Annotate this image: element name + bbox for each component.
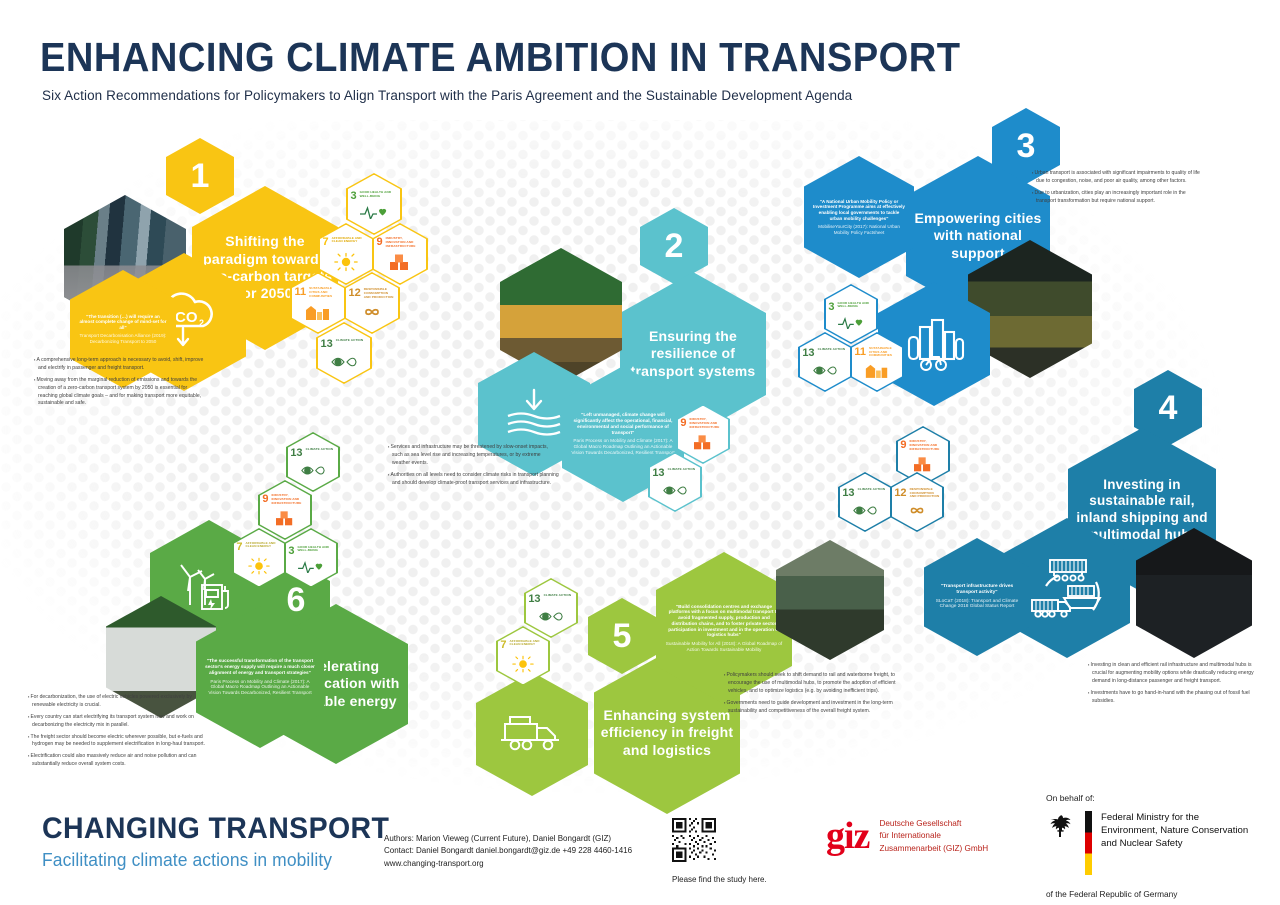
- sun-icon: [333, 252, 359, 274]
- sdg-9-number: 9: [680, 418, 686, 429]
- contact-line: Contact: Daniel Bongardt daniel.bongardt…: [384, 845, 632, 857]
- ministry-footer: of the Federal Republic of Germany: [1046, 889, 1248, 899]
- section-3-quote: "A National Urban Mobility Policy or Inv…: [813, 199, 905, 221]
- section-3-source: MobiliseYourCity (2017): National Urban …: [813, 224, 905, 235]
- section-2-bullets: Services and infrastructure may be threa…: [388, 444, 560, 491]
- sdg-11-number: 11: [854, 347, 866, 358]
- city-buildings-icon: [304, 303, 332, 321]
- giz-logo: giz Deutsche Gesellschaft für Internatio…: [826, 818, 988, 855]
- climate-eye-globe-icon: [852, 503, 878, 518]
- section-6-quote: "The successful transformation of the tr…: [205, 658, 315, 675]
- section-3-quote-block: "A National Urban Mobility Policy or Inv…: [804, 199, 914, 236]
- section-1-source: Transport Decarbonisation Alliance (2019…: [79, 333, 167, 344]
- sdg-13-number: 13: [528, 594, 540, 605]
- page-title: ENHANCING CLIMATE AMBITION IN TRANSPORT: [40, 34, 961, 81]
- industry-cubes-icon: [273, 510, 297, 528]
- section-2-quote-block: "Left unmanaged, climate change will sig…: [562, 412, 684, 455]
- sdg-13-number: 13: [652, 468, 664, 479]
- qr-block[interactable]: Please find the study here.: [672, 818, 767, 884]
- rail-ship-truck-icon: [1024, 552, 1110, 624]
- brand-title: CHANGING TRANSPORT: [42, 812, 389, 846]
- sdg-9-number: 9: [262, 494, 268, 505]
- section-3-bullet-1: Urban transport is associated with signi…: [1032, 170, 1204, 186]
- section-2-title: Ensuring the resilience of transport sys…: [620, 328, 766, 380]
- ministry-name: Federal Ministry for the Environment, Na…: [1101, 811, 1248, 851]
- section-5-source: Sustainable Mobility for All (2018): A G…: [665, 641, 783, 652]
- qr-caption: Please find the study here.: [672, 875, 767, 884]
- sdg-12-label: RESPONSIBLE CONSUMPTION AND PRODUCTION: [910, 488, 940, 499]
- page-subtitle: Six Action Recommendations for Policymak…: [42, 88, 852, 103]
- industry-cubes-icon: [691, 434, 715, 452]
- poster-canvas: ENHANCING CLIMATE AMBITION IN TRANSPORT …: [0, 0, 1280, 905]
- section-6-bullet-3: The freight sector should become electri…: [28, 734, 208, 750]
- section-6-bullet-4: Electrification could also massively red…: [28, 753, 208, 769]
- sdg-13-number: 13: [290, 448, 302, 459]
- sdg-13-label: CLIMATE ACTION: [306, 448, 334, 452]
- heartbeat-icon: [297, 561, 325, 573]
- climate-eye-globe-icon: [330, 354, 358, 370]
- section-2-bullet-2: Authorities on all levels need to consid…: [388, 472, 560, 488]
- sdg-13-label: CLIMATE ACTION: [336, 339, 364, 343]
- section-5-quote-block: "Build consolidation centres and exchang…: [656, 604, 792, 653]
- section-4-bullets: Investing in clean and efficient rail in…: [1088, 662, 1263, 709]
- section-5-bullets: Policymakers should seek to shift demand…: [724, 672, 900, 719]
- section-5-number: 5: [613, 619, 632, 653]
- sdg-12-number: 12: [894, 488, 906, 499]
- sdg-12-number: 12: [348, 288, 360, 299]
- section-2-number: 2: [665, 229, 684, 263]
- svg-text:CO: CO: [175, 309, 198, 326]
- svg-text:2: 2: [199, 318, 204, 328]
- sdg-3-number: 3: [350, 191, 356, 202]
- section-4-number: 4: [1159, 391, 1178, 425]
- section-4-quote: "Transport infrastructure drives transpo…: [933, 584, 1021, 596]
- section-3-bullet-2: Due to urbanization, cities play an incr…: [1032, 190, 1204, 206]
- section-4-bullet-1: Investing in clean and efficient rail in…: [1088, 662, 1263, 686]
- sdg-13-number: 13: [802, 348, 814, 359]
- sdg-13-number: 13: [320, 339, 332, 350]
- federal-eagle-icon: [1046, 811, 1076, 841]
- section-2-quote: "Left unmanaged, climate change will sig…: [571, 412, 675, 435]
- sdg-9-label: INDUSTRY, INNOVATION AND INFRASTRUCTURE: [689, 418, 725, 429]
- section-5-title: Enhancing system efficiency in freight a…: [594, 707, 740, 759]
- sdg-12-label: RESPONSIBLE CONSUMPTION AND PRODUCTION: [364, 288, 396, 299]
- sdg-9-label: INDUSTRY, INNOVATION AND INFRASTRUCTURE: [386, 237, 424, 248]
- infinity-icon: [904, 503, 930, 518]
- brand-tagline: Facilitating climate actions in mobility: [42, 850, 397, 871]
- sdg-3-label: GOOD HEALTH AND WELL-BEING: [297, 546, 333, 554]
- freight-truck-icon: [495, 710, 569, 758]
- heartbeat-icon: [359, 206, 389, 219]
- section-1-quote: "The transition (…) will require an almo…: [79, 314, 167, 331]
- section-6-quote-block: "The successful transformation of the tr…: [196, 658, 324, 695]
- sdg-9-label: INDUSTRY, INNOVATION AND INFRASTRUCTURE: [271, 494, 307, 505]
- sdg-11-number: 11: [294, 287, 306, 298]
- authors-line: Authors: Marion Vieweg (Current Future),…: [384, 833, 632, 845]
- section-4-bullet-2: Investments have to go hand-in-hand with…: [1088, 690, 1263, 706]
- sdg-13-number: 13: [842, 488, 854, 499]
- heartbeat-icon: [837, 317, 865, 329]
- sdg-7-label: AFFORDABLE AND CLEAN ENERGY: [332, 237, 370, 245]
- giz-fullname: Deutsche Gesellschaft für Internationale…: [879, 818, 988, 855]
- sun-icon: [247, 557, 271, 577]
- german-flag-bar: [1085, 811, 1092, 875]
- on-behalf-label: On behalf of:: [1046, 793, 1248, 803]
- section-5-bullet-1: Policymakers should seek to shift demand…: [724, 672, 900, 696]
- city-skyline-bike-icon: [901, 315, 967, 373]
- section-1-bullet-2: Moving away from the marginal reduction …: [34, 377, 206, 409]
- sdg-9-label: INDUSTRY, INNOVATION AND INFRASTRUCTURE: [909, 440, 945, 451]
- contact-block: Authors: Marion Vieweg (Current Future),…: [384, 833, 632, 870]
- website-line[interactable]: www.changing-transport.org: [384, 858, 632, 870]
- section-2-source: Paris Process on Mobility and Climate (2…: [571, 438, 675, 455]
- sdg-9-number: 9: [900, 440, 906, 451]
- industry-cubes-icon: [387, 253, 413, 273]
- sdg-9-number: 9: [376, 237, 382, 248]
- sdg-3-label: GOOD HEALTH AND WELL-BEING: [837, 302, 873, 310]
- sdg-7-number: 7: [236, 542, 242, 553]
- sun-icon: [511, 655, 535, 675]
- sea-level-rise-icon: [502, 386, 566, 442]
- sdg-3-label: GOOD HEALTH AND WELL-BEING: [360, 191, 398, 199]
- sdg-7-label: AFFORDABLE AND CLEAN ENERGY: [245, 542, 281, 550]
- section-5-bullet-2: Governments need to guide development an…: [724, 700, 900, 716]
- section-4-quote-block: "Transport infrastructure drives transpo…: [924, 584, 1030, 610]
- sdg-3-number: 3: [288, 546, 294, 557]
- section-2-bullet-1: Services and infrastructure may be threa…: [388, 444, 560, 468]
- city-buildings-icon: [864, 362, 890, 379]
- section-3-number: 3: [1017, 129, 1036, 163]
- sdg-3-number: 3: [828, 302, 834, 313]
- changing-transport-logo: CHANGING TRANSPORT Facilitating climate …: [42, 812, 408, 871]
- section-6-bullets: For decarbonization, the use of electric…: [28, 694, 208, 773]
- sdg-13-label: CLIMATE ACTION: [544, 594, 572, 598]
- section-6-number: 6: [287, 583, 306, 617]
- section-6-bullet-1: For decarbonization, the use of electric…: [28, 694, 208, 710]
- climate-eye-globe-icon: [662, 483, 688, 498]
- sdg-11-label: SUSTAINABLE CITIES AND COMMUNITIES: [309, 287, 341, 298]
- climate-eye-globe-icon: [300, 463, 326, 478]
- industry-cubes-icon: [911, 456, 935, 474]
- section-1-number: 1: [191, 159, 210, 193]
- section-3-bullets: Urban transport is associated with signi…: [1032, 170, 1204, 210]
- section-5-quote: "Build consolidation centres and exchang…: [665, 604, 783, 638]
- sdg-13-label: CLIMATE ACTION: [818, 348, 846, 352]
- sdg-7-number: 7: [500, 640, 506, 651]
- section-1-bullet-1: A comprehensive long-term approach is ne…: [34, 357, 206, 373]
- section-4-source: SLoCaT (2018): Transport and Climate Cha…: [933, 599, 1021, 611]
- sdg-11-label: SUSTAINABLE CITIES AND COMMUNITIES: [869, 347, 900, 358]
- section-6-source: Paris Process on Mobility and Climate (2…: [205, 679, 315, 696]
- bmu-logo-block: On behalf of: Federal Ministry for the E…: [1046, 793, 1248, 899]
- section-1-quote-block: "The transition (…) will require an almo…: [70, 314, 176, 345]
- sdg-7-number: 7: [322, 237, 328, 248]
- giz-wordmark: giz: [826, 819, 869, 853]
- qr-code[interactable]: [672, 818, 716, 862]
- sdg-7-label: AFFORDABLE AND CLEAN ENERGY: [509, 640, 545, 648]
- section-1-bullets: A comprehensive long-term approach is ne…: [34, 357, 206, 412]
- sdg-13-label: CLIMATE ACTION: [668, 468, 696, 472]
- sdg-13-label: CLIMATE ACTION: [858, 488, 886, 492]
- climate-eye-globe-icon: [538, 609, 564, 624]
- climate-eye-globe-icon: [812, 363, 838, 378]
- section-6-bullet-2: Every country can start electrifying its…: [28, 714, 208, 730]
- infinity-icon: [358, 304, 386, 320]
